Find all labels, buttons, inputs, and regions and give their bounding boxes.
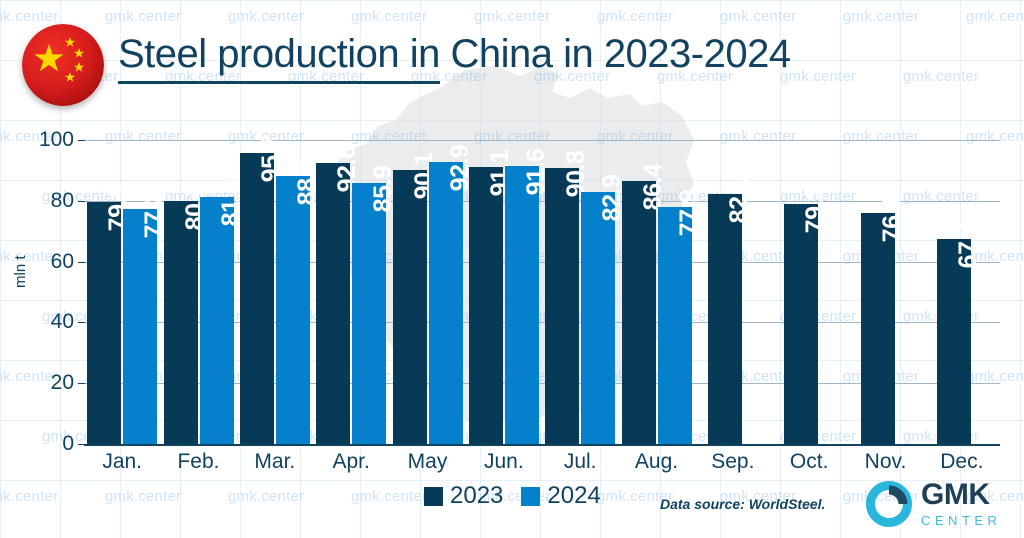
bar-2024-mar: 88.3 <box>276 176 310 444</box>
bar-2023-jan: 79.5 <box>87 202 121 444</box>
logo-name: GMK <box>921 480 1001 510</box>
bar-2023-feb: 80.1 <box>164 201 198 445</box>
bar-2024-apr: 85.9 <box>352 183 386 444</box>
y-axis-tick-label: 20 <box>22 371 74 395</box>
legend-item-2024[interactable]: 2024 <box>521 482 600 510</box>
bar-2023-jun: 91.1 <box>469 167 503 444</box>
bar-value-label: 86.4 <box>639 164 668 211</box>
bar-value-label: 82.1 <box>725 177 754 224</box>
y-axis-tick-label: 100 <box>22 128 74 152</box>
bar-2023-may: 90.1 <box>393 170 427 444</box>
y-axis-tick-label: 80 <box>22 189 74 213</box>
bar-2024-feb: 81.2 <box>200 197 234 444</box>
legend-label: 2023 <box>450 482 503 510</box>
legend-swatch <box>521 487 540 506</box>
legend-item-2023[interactable]: 2023 <box>424 482 503 510</box>
x-axis-tick-label: Sep. <box>695 450 771 474</box>
bar-2023-jul: 90.8 <box>545 168 579 444</box>
y-axis-tick-mark <box>78 444 85 445</box>
x-axis-line <box>84 444 1000 446</box>
bar-value-label: 77.9 <box>675 190 704 237</box>
legend-swatch <box>424 487 443 506</box>
x-axis-tick-label: Jan. <box>84 450 160 474</box>
y-axis-tick-mark <box>78 322 85 323</box>
x-axis-tick-label: May <box>389 450 465 474</box>
bar-2023-nov: 76.1 <box>861 213 895 444</box>
bar-value-label: 67.4 <box>954 222 983 269</box>
bar-2023-apr: 92.6 <box>316 163 350 445</box>
gmk-donut-icon <box>866 481 912 527</box>
x-axis-tick-label: Nov. <box>847 450 923 474</box>
bar-2024-jul: 82.9 <box>581 192 615 444</box>
chart-header: Steel production in China in 2023-2024 <box>0 0 1024 112</box>
x-axis-tick-label: Jul. <box>542 450 618 474</box>
y-axis-tick-label: 0 <box>22 432 74 456</box>
page-title: Steel production in China in 2023-2024 <box>118 32 791 77</box>
gridline <box>84 140 1000 141</box>
y-axis-tick-label: 40 <box>22 310 74 334</box>
bar-2023-aug: 86.4 <box>622 181 656 444</box>
x-axis-tick-label: Oct. <box>771 450 847 474</box>
bar-value-label: 76.1 <box>878 195 907 242</box>
china-flag-icon <box>22 24 104 106</box>
data-source-note: Data source: WorldSteel. <box>660 496 825 512</box>
x-axis-tick-label: Feb. <box>160 450 236 474</box>
bar-2024-jun: 91.6 <box>505 166 539 444</box>
bar-2024-jan: 77.2 <box>123 209 157 444</box>
bar-value-label: 90.8 <box>562 151 591 198</box>
bar-2023-dec: 67.4 <box>937 239 971 444</box>
bar-2023-oct: 79.1 <box>784 204 818 444</box>
y-axis-tick-mark <box>78 140 85 141</box>
x-axis-tick-label: Aug. <box>618 450 694 474</box>
y-axis-tick-mark <box>78 201 85 202</box>
y-axis-tick-mark <box>78 383 85 384</box>
x-axis-tick-label: Apr. <box>313 450 389 474</box>
bar-2024-may: 92.9 <box>429 162 463 444</box>
y-axis-tick-label: 60 <box>22 250 74 274</box>
x-axis-tick-label: Mar. <box>237 450 313 474</box>
gmk-center-logo[interactable]: GMK CENTER <box>866 480 1001 527</box>
chart-legend: 20232024 <box>424 482 601 510</box>
bar-2024-aug: 77.9 <box>658 207 692 444</box>
bar-value-label: 79.1 <box>801 186 830 233</box>
title-rest-part: China in 2023-2024 <box>440 32 791 76</box>
y-axis-tick-mark <box>78 262 85 263</box>
legend-label: 2024 <box>547 482 600 510</box>
x-axis-tick-label: Dec. <box>924 450 1000 474</box>
title-underlined-part: Steel production in <box>118 32 440 84</box>
logo-subtitle: CENTER <box>921 514 1001 527</box>
x-axis-tick-label: Jun. <box>466 450 542 474</box>
bar-2023-sep: 82.1 <box>708 194 742 444</box>
bar-2023-mar: 95.7 <box>240 153 274 444</box>
